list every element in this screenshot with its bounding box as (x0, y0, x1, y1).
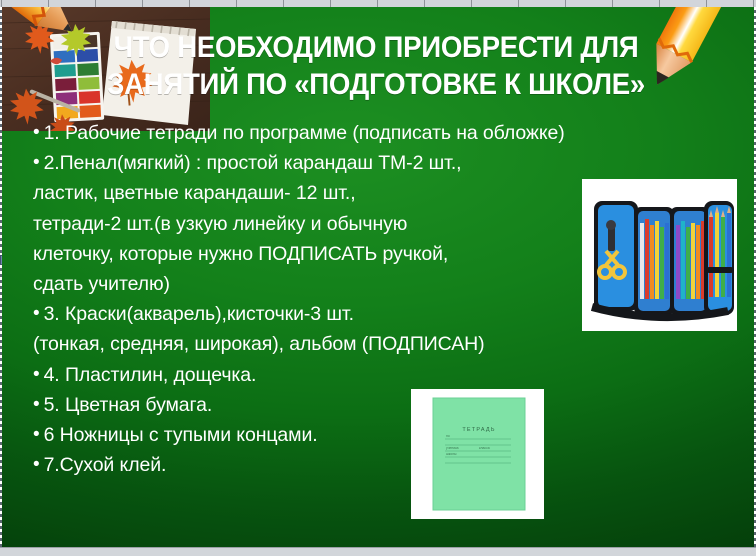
status-strip (0, 547, 756, 556)
ruler-tick (612, 0, 613, 7)
slide-title: ЧТО НЕОБХОДИМО ПРИОБРЕСТИ ДЛЯ ЗАНЯТИЙ ПО… (69, 29, 684, 103)
ruler-tick (283, 0, 284, 7)
ruler-tick (424, 0, 425, 7)
ruler-tick (659, 0, 660, 7)
list-item: 7.Сухой клей. (33, 450, 733, 480)
pencil-case-illustration (582, 179, 737, 331)
list-item: 4. Пластилин, дощечка. (33, 360, 733, 390)
horizontal-ruler[interactable] (0, 0, 756, 7)
list-item: 6 Ножницы с тупыми концами. (33, 420, 733, 450)
ruler-tick (330, 0, 331, 7)
pencil-case-photo[interactable] (582, 179, 737, 331)
ruler-tick (189, 0, 190, 7)
svg-text:школы: школы (446, 452, 457, 456)
list-item: 1. Рабочие тетради по программе (подписа… (33, 118, 733, 148)
list-item: (тонкая, средняя, широкая), альбом (ПОДП… (33, 329, 733, 359)
notebook-photo[interactable]: ТЕТРАДЬ по ученика класса школы (411, 389, 544, 519)
ruler-tick (377, 0, 378, 7)
slide-object-selection[interactable]: ЧТО НЕОБХОДИМО ПРИОБРЕСТИ ДЛЯ ЗАНЯТИЙ ПО… (0, 7, 756, 548)
ruler-tick (1, 0, 2, 7)
ruler-tick (236, 0, 237, 7)
svg-text:ТЕТРАДЬ: ТЕТРАДЬ (462, 427, 495, 433)
ruler-tick (95, 0, 96, 7)
slide-canvas[interactable]: ЧТО НЕОБХОДИМО ПРИОБРЕСТИ ДЛЯ ЗАНЯТИЙ ПО… (2, 7, 754, 548)
ruler-tick (565, 0, 566, 7)
presentation-editor: ЧТО НЕОБХОДИМО ПРИОБРЕСТИ ДЛЯ ЗАНЯТИЙ ПО… (0, 0, 756, 556)
ruler-tick (753, 0, 754, 7)
ruler-tick (706, 0, 707, 7)
list-item: 2.Пенал(мягкий) : простой карандаш ТМ-2 … (33, 148, 733, 178)
notebook-illustration: ТЕТРАДЬ по ученика класса школы (411, 389, 544, 519)
ruler-tick (142, 0, 143, 7)
svg-text:класса: класса (479, 446, 490, 450)
ruler-tick (48, 0, 49, 7)
ruler-tick (518, 0, 519, 7)
list-item: 5. Цветная бумага. (33, 390, 733, 420)
svg-text:по: по (446, 434, 450, 438)
ruler-tick (471, 0, 472, 7)
svg-text:ученика: ученика (446, 446, 459, 450)
